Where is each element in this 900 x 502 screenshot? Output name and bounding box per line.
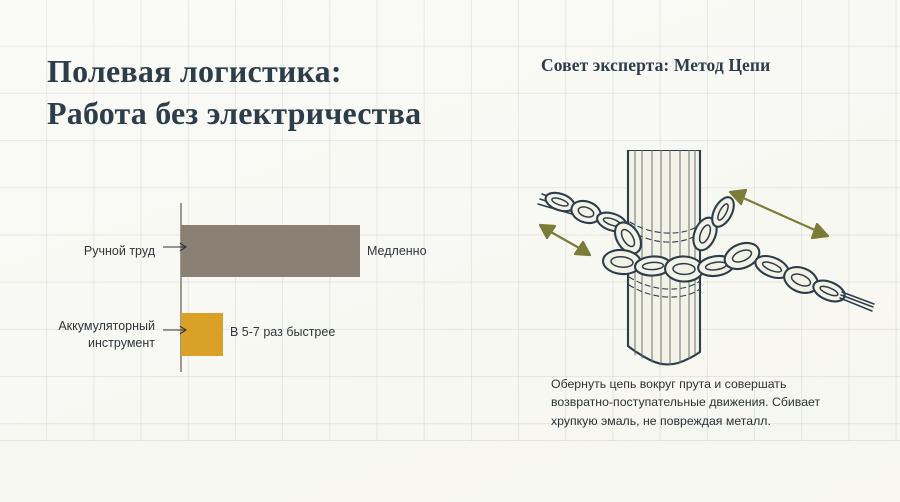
bar-manual-labor: [181, 225, 360, 277]
motion-arrow-left-icon: [540, 225, 590, 255]
arrow-right-icon-manual: [163, 242, 189, 252]
bar-value-label-manual: Медленно: [367, 244, 427, 258]
motion-arrow-right-icon: [730, 190, 828, 238]
expert-tip-title: Совет эксперта: Метод Цепи: [541, 55, 770, 76]
comparison-bar-chart: Ручной труд Аккумуляторный инструмент Ме…: [0, 0, 470, 400]
chain-around-rod-illustration: .ln{fill:#f3f2e7;stroke:#2d3e4a;stroke-w…: [520, 150, 890, 375]
slide-canvas: Полевая логистика: Работа без электричес…: [0, 0, 900, 502]
tip-caption: Обернуть цепь вокруг прута и совершать в…: [551, 375, 881, 430]
bar-category-label-cordless: Аккумуляторный инструмент: [20, 318, 155, 352]
bar-value-label-cordless: В 5-7 раз быстрее: [230, 325, 335, 339]
arrow-right-icon-cordless: [163, 325, 189, 335]
grid-bottom-edge: [0, 440, 900, 441]
bar-category-label-manual: Ручной труд: [35, 243, 155, 260]
chain-right-strand: [721, 238, 874, 311]
